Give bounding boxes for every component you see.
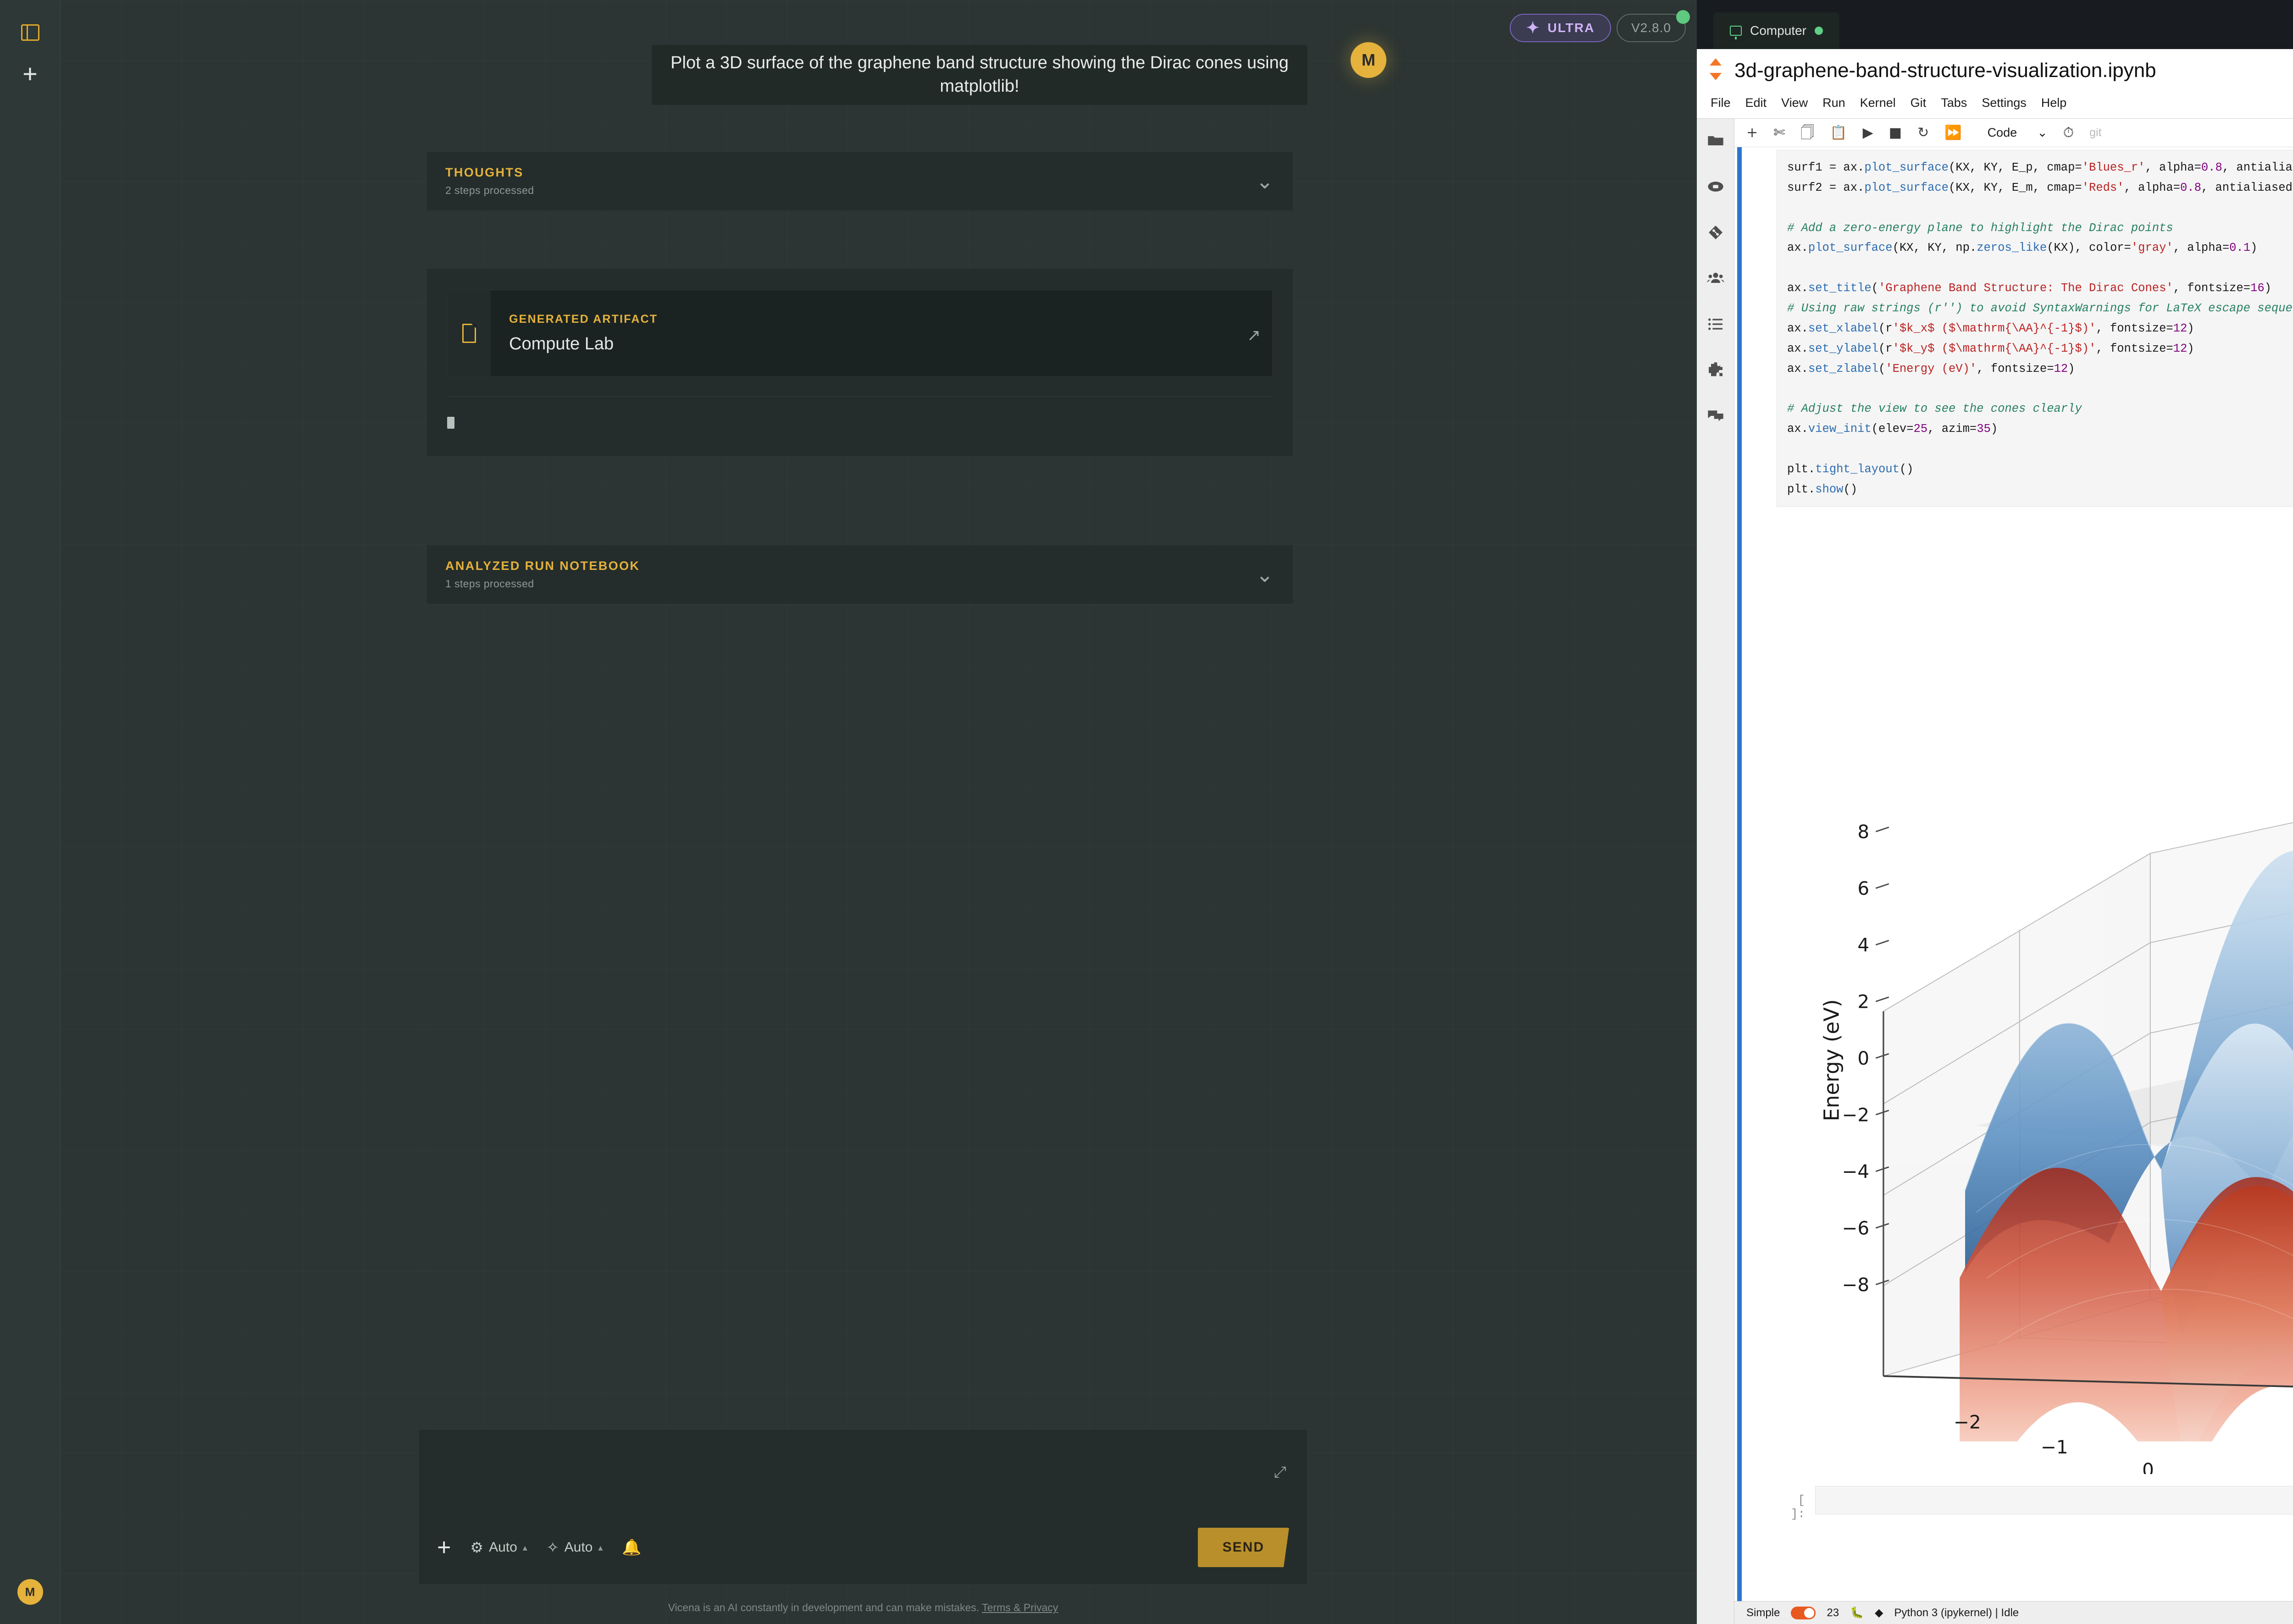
app-root: + M Plot a 3D surface of the graphene ba… xyxy=(0,0,2293,1624)
monitor-icon xyxy=(1730,26,1742,36)
empty-code-cell[interactable]: [ ]: xyxy=(1777,1486,2293,1521)
analyzed-run-subtitle: 1 steps processed xyxy=(445,578,1274,590)
version-label: V2.8.0 xyxy=(1631,21,1671,35)
folder-icon[interactable] xyxy=(1703,128,1728,154)
menu-git[interactable]: Git xyxy=(1903,94,1934,112)
cell-gutter xyxy=(1734,147,1745,1601)
notebook-toolbar: + ✄ 🗍 📋 ▶ ■ ↻ ⏩ Code ⌄ ⏱ git Notebook xyxy=(1734,119,2293,147)
caret-up-icon: ▴ xyxy=(598,1542,603,1553)
artifact-name: Compute Lab xyxy=(509,334,1254,354)
bell-icon[interactable]: 🔔 xyxy=(622,1540,641,1555)
notebook-content: surf1 = ax.plot_surface(KX, KY, E_p, cma… xyxy=(1745,147,2293,1601)
menu-kernel[interactable]: Kernel xyxy=(1853,94,1903,112)
cell-type-select[interactable]: Code ⌄ xyxy=(1988,126,2048,140)
jupyter-body: + ✄ 🗍 📋 ▶ ■ ↻ ⏩ Code ⌄ ⏱ git Notebook xyxy=(1697,118,2293,1624)
generated-artifact-card[interactable]: GENERATED ARTIFACT Compute Lab xyxy=(447,290,1273,377)
jupyter-left-sidebar xyxy=(1697,119,1734,1624)
menu-edit[interactable]: Edit xyxy=(1738,94,1774,112)
kernel-status: Python 3 (ipykernel) | Idle xyxy=(1894,1607,2019,1619)
divider xyxy=(447,396,1273,397)
notebook-main: + ✄ 🗍 📋 ▶ ■ ↻ ⏩ Code ⌄ ⏱ git Notebook xyxy=(1734,119,2293,1624)
svg-text:−8: −8 xyxy=(1842,1274,1870,1296)
svg-text:0: 0 xyxy=(2142,1459,2154,1474)
thoughts-block: ˅ THOUGHTS 2 steps processed ⌄ xyxy=(426,151,1293,211)
restart-run-all-icon[interactable]: ⏩ xyxy=(1944,126,1961,140)
collaboration-icon[interactable] xyxy=(1703,265,1728,291)
svg-text:−6: −6 xyxy=(1842,1217,1870,1239)
artifact-icon-column xyxy=(448,290,491,376)
analyzed-run-card[interactable]: ANALYZED RUN NOTEBOOK 1 steps processed … xyxy=(426,545,1293,604)
cell-prompt: [ ]: xyxy=(1777,1486,1815,1521)
notebook-scroll-area[interactable]: surf1 = ax.plot_surface(KX, KY, E_p, cma… xyxy=(1734,147,2293,1601)
version-badge[interactable]: V2.8.0 xyxy=(1617,14,1686,42)
add-cell-icon[interactable]: + xyxy=(1746,126,1758,140)
attach-icon[interactable]: + xyxy=(437,1540,451,1555)
menu-run[interactable]: Run xyxy=(1815,94,1853,112)
artifact-body: GENERATED ARTIFACT Compute Lab xyxy=(491,290,1272,376)
ultra-badge[interactable]: ✦ ULTRA xyxy=(1510,14,1611,42)
chevron-down-icon[interactable]: ⌄ xyxy=(1256,564,1274,585)
cell-type-value: Code xyxy=(1988,126,2017,140)
menubar: File Edit View Run Kernel Git Tabs Setti… xyxy=(1697,86,2293,118)
jupyter-logo-icon xyxy=(1707,55,1727,86)
chat-top-bar: Plot a 3D surface of the graphene band s… xyxy=(0,0,1697,69)
disclaimer-text: Vicena is an AI constantly in developmen… xyxy=(668,1602,979,1613)
send-button[interactable]: SEND xyxy=(1198,1528,1289,1567)
notebook-status-bar: Simple 23 🐛 ◆ Python 3 (ipykernel) | Idl… xyxy=(1734,1601,2293,1624)
stop-indicator-icon xyxy=(447,417,454,429)
mode-chip-2-label: Auto xyxy=(565,1540,593,1555)
thoughts-title: THOUGHTS xyxy=(445,166,1274,180)
code-cell-output: 8 6 4 2 0 −2 −4 −6 −8 xyxy=(1745,507,2293,1474)
expand-composer-icon[interactable]: ⤢ xyxy=(1274,1464,1286,1480)
menu-view[interactable]: View xyxy=(1774,94,1815,112)
svg-text:6: 6 xyxy=(1857,878,1869,899)
sparkle-icon: ✧ xyxy=(547,1540,559,1555)
stop-icon[interactable]: ■ xyxy=(1889,126,1902,140)
status-dot-icon xyxy=(1815,27,1823,35)
disclaimer: Vicena is an AI constantly in developmen… xyxy=(418,1602,1308,1624)
jupyter-titlebar: 3d-graphene-band-structure-visualization… xyxy=(1697,49,2293,118)
restart-icon[interactable]: ↻ xyxy=(1917,126,1929,140)
menu-settings[interactable]: Settings xyxy=(1974,94,2034,112)
mode-chip-auto-1[interactable]: ⚙ Auto ▴ xyxy=(470,1540,527,1555)
svg-text:−1: −1 xyxy=(2041,1436,2068,1458)
cut-icon[interactable]: ✄ xyxy=(1773,126,1785,140)
table-of-contents-icon[interactable] xyxy=(1703,311,1728,337)
artifact-container: GENERATED ARTIFACT Compute Lab ↗ xyxy=(426,268,1293,457)
extension-manager-icon[interactable] xyxy=(1703,357,1728,383)
computer-header: Computer xyxy=(1697,0,2293,49)
right-panel: Computer 3d-graphene-band-structure-visu… xyxy=(1697,0,2293,1624)
artifact-kicker: GENERATED ARTIFACT xyxy=(509,313,1254,326)
avatar[interactable]: M xyxy=(17,1579,43,1605)
chat-icon[interactable] xyxy=(1703,403,1728,429)
svg-text:0: 0 xyxy=(1857,1048,1869,1069)
tab-computer-label: Computer xyxy=(1750,23,1806,38)
analyzed-run-block: ˅ ANALYZED RUN NOTEBOOK 1 steps processe… xyxy=(426,545,1293,604)
copy-icon[interactable]: 🗍 xyxy=(1800,126,1814,140)
chat-panel: + M Plot a 3D surface of the graphene ba… xyxy=(0,0,1697,1624)
composer[interactable]: ⤢ + ⚙ Auto ▴ ✧ Auto ▴ 🔔 xyxy=(418,1429,1308,1585)
code-cell-input[interactable]: surf1 = ax.plot_surface(KX, KY, E_p, cma… xyxy=(1777,150,2293,507)
chat-left-rail: + M xyxy=(0,0,61,1624)
ultra-label: ULTRA xyxy=(1548,21,1595,35)
z-axis-label: Energy (eV) xyxy=(1820,999,1844,1121)
code-cell-source: surf1 = ax.plot_surface(KX, KY, E_p, cma… xyxy=(1787,158,2293,500)
sparkle-icon: ✦ xyxy=(1526,20,1540,36)
active-cell-bar xyxy=(1737,147,1742,1601)
svg-text:−2: −2 xyxy=(1842,1104,1870,1126)
menu-tabs[interactable]: Tabs xyxy=(1933,94,1974,112)
svg-text:2: 2 xyxy=(1857,991,1869,1012)
simple-mode-toggle[interactable] xyxy=(1791,1607,1816,1619)
cell-count: 23 xyxy=(1827,1607,1839,1619)
open-artifact-icon[interactable]: ↗ xyxy=(1247,327,1261,344)
svg-text:8: 8 xyxy=(1857,821,1869,843)
svg-text:−2: −2 xyxy=(1954,1411,1981,1433)
jupyter-title-row: 3d-graphene-band-structure-visualization… xyxy=(1697,55,2293,86)
new-chat-icon[interactable]: + xyxy=(16,60,44,88)
panel-toggle-icon[interactable] xyxy=(16,18,44,47)
svg-text:4: 4 xyxy=(1857,934,1869,956)
graphene-band-structure-plot: 8 6 4 2 0 −2 −4 −6 −8 xyxy=(1800,516,2293,1474)
page-title: 3d-graphene-band-structure-visualization… xyxy=(1734,59,2156,82)
run-icon[interactable]: ▶ xyxy=(1863,126,1873,140)
menu-file[interactable]: File xyxy=(1707,94,1738,112)
document-icon xyxy=(462,324,476,343)
terms-privacy-link[interactable]: Terms & Privacy xyxy=(982,1602,1058,1613)
tab-computer[interactable]: Computer xyxy=(1713,12,1839,49)
paste-icon[interactable]: 📋 xyxy=(1830,126,1847,140)
mode-chip-auto-2[interactable]: ✧ Auto ▴ xyxy=(547,1540,603,1555)
menu-help[interactable]: Help xyxy=(2034,94,2074,112)
message-flow: ˅ THOUGHTS 2 steps processed ⌄ ˅ G xyxy=(0,69,1697,1624)
git-icon[interactable]: ◆ xyxy=(1875,1606,1883,1619)
mode-chip-1-label: Auto xyxy=(489,1540,517,1555)
thoughts-subtitle: 2 steps processed xyxy=(445,184,1274,197)
git-label: git xyxy=(2089,126,2101,139)
empty-cell-input[interactable] xyxy=(1815,1486,2293,1514)
chevron-down-icon: ⌄ xyxy=(2037,126,2048,140)
composer-wrap: ⤢ + ⚙ Auto ▴ ✧ Auto ▴ 🔔 xyxy=(418,1429,1308,1624)
chevron-down-icon[interactable]: ⌄ xyxy=(1256,171,1274,192)
thoughts-card[interactable]: THOUGHTS 2 steps processed ⌄ xyxy=(426,151,1293,211)
composer-toolbar: + ⚙ Auto ▴ ✧ Auto ▴ 🔔 SEND xyxy=(437,1528,1289,1567)
simple-mode-label: Simple xyxy=(1746,1607,1780,1619)
artifact-block: ˅ GENERATED ARTIFACT Compute Lab ↗ xyxy=(426,268,1293,457)
running-terminals-icon[interactable] xyxy=(1703,174,1728,199)
git-branch-icon[interactable] xyxy=(1703,220,1728,245)
caret-up-icon: ▴ xyxy=(523,1542,527,1553)
clock-icon[interactable]: ⏱ xyxy=(2063,126,2074,140)
gear-icon: ⚙ xyxy=(470,1540,483,1555)
kernel-icon[interactable]: 🐛 xyxy=(1850,1606,1864,1619)
analyzed-run-title: ANALYZED RUN NOTEBOOK xyxy=(445,559,1274,573)
svg-text:−4: −4 xyxy=(1842,1161,1870,1182)
status-dot xyxy=(1676,10,1690,24)
